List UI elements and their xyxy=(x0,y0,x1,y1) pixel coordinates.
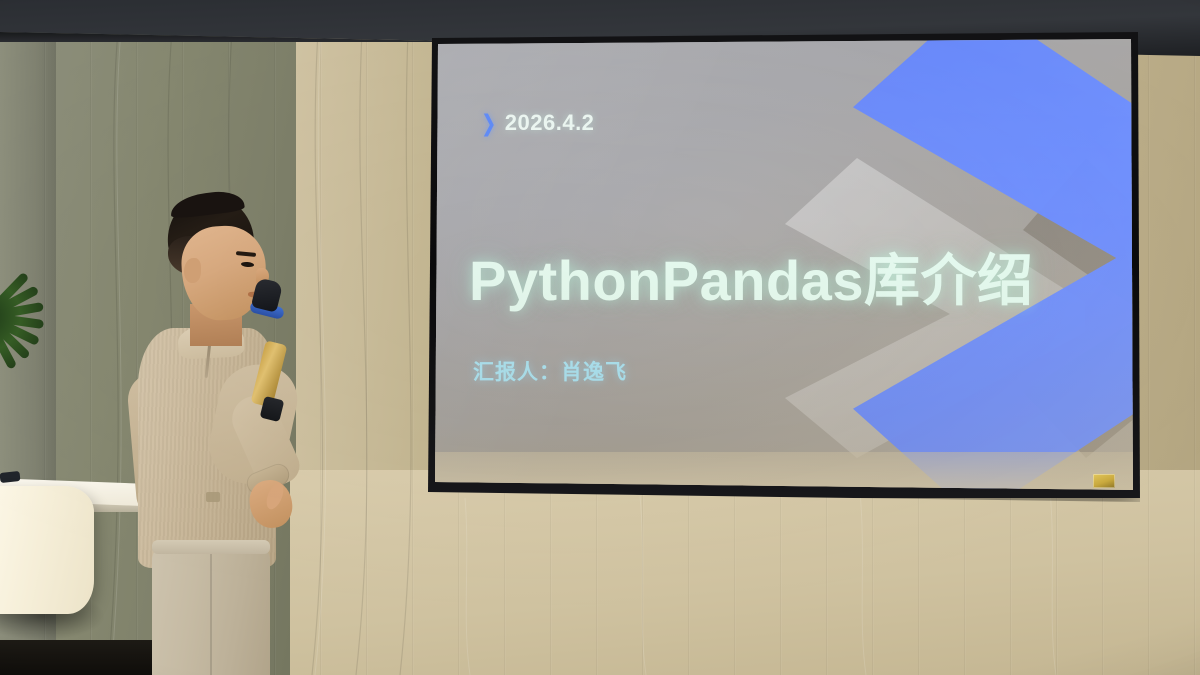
screen-asset-sticker xyxy=(1093,474,1115,488)
potted-plant xyxy=(0,272,54,404)
slide-date-text: 2026.4.2 xyxy=(505,110,595,136)
slide-author: 汇报人：肖逸飞 xyxy=(473,356,627,386)
wall-lower-wainscot xyxy=(290,470,1200,675)
chair xyxy=(0,486,94,614)
remote-control[interactable] xyxy=(0,471,20,483)
chevron-right-icon: ❯ xyxy=(481,112,497,135)
sweater-hem-tag xyxy=(206,492,220,502)
trouser-waistband xyxy=(152,540,270,554)
trouser-seam xyxy=(210,552,212,675)
projection-screen-surface[interactable]: ❯ 2026.4.2 PythonPandas库介绍 汇报人：肖逸飞 xyxy=(435,38,1133,490)
presenter xyxy=(118,196,318,675)
slide-title: PythonPandas库介绍 xyxy=(469,236,1033,317)
presentation-room-photo: ❯ 2026.4.2 PythonPandas库介绍 汇报人：肖逸飞 xyxy=(0,0,1200,675)
presentation-slide[interactable]: ❯ 2026.4.2 PythonPandas库介绍 汇报人：肖逸飞 xyxy=(435,38,1133,490)
presenter-ear xyxy=(184,258,201,283)
slide-date-line: ❯ 2026.4.2 xyxy=(479,110,594,136)
